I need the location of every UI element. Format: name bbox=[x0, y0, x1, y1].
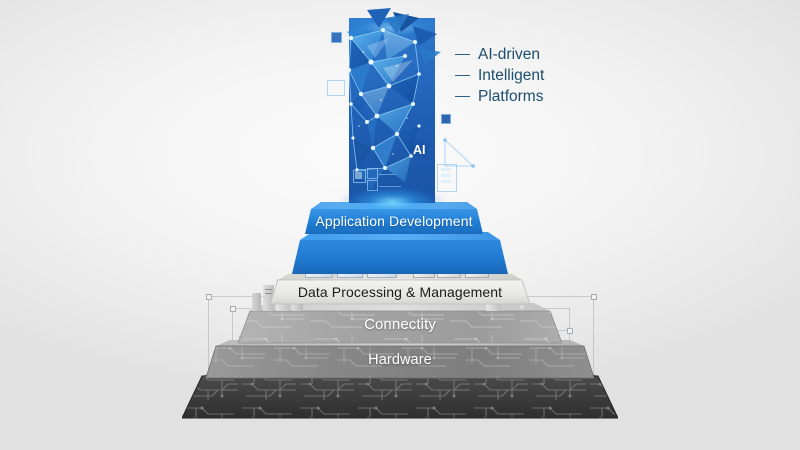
layer-connectity: Connectity bbox=[238, 303, 562, 345]
layer-data-processing-label: Data Processing & Management bbox=[270, 284, 530, 300]
layer-connectity-label: Connectity bbox=[238, 316, 562, 333]
callout-label: Intelligent bbox=[478, 65, 544, 86]
ai-tower: AI bbox=[349, 18, 435, 203]
pyramid-infographic: Hardware bbox=[0, 0, 800, 450]
callout-dash-icon bbox=[455, 75, 470, 77]
tower-base-glow bbox=[321, 178, 463, 224]
layer-hardware-label: Hardware bbox=[206, 352, 594, 368]
ai-label: AI bbox=[413, 143, 426, 157]
callout-label: AI-driven bbox=[478, 44, 540, 65]
layer-hardware: Hardware bbox=[206, 340, 594, 380]
callout-row: Intelligent bbox=[455, 65, 544, 86]
callout-dash-icon bbox=[455, 96, 470, 98]
callout-row: AI-driven bbox=[455, 44, 544, 65]
callout-row: Platforms bbox=[455, 86, 544, 107]
layer-application-base bbox=[292, 232, 508, 276]
layer-data-processing: Data Processing & Management bbox=[270, 274, 530, 306]
callout-label: Platforms bbox=[478, 86, 543, 107]
callout-dash-icon bbox=[455, 54, 470, 56]
callout-labels: AI-driven Intelligent Platforms bbox=[455, 44, 544, 107]
